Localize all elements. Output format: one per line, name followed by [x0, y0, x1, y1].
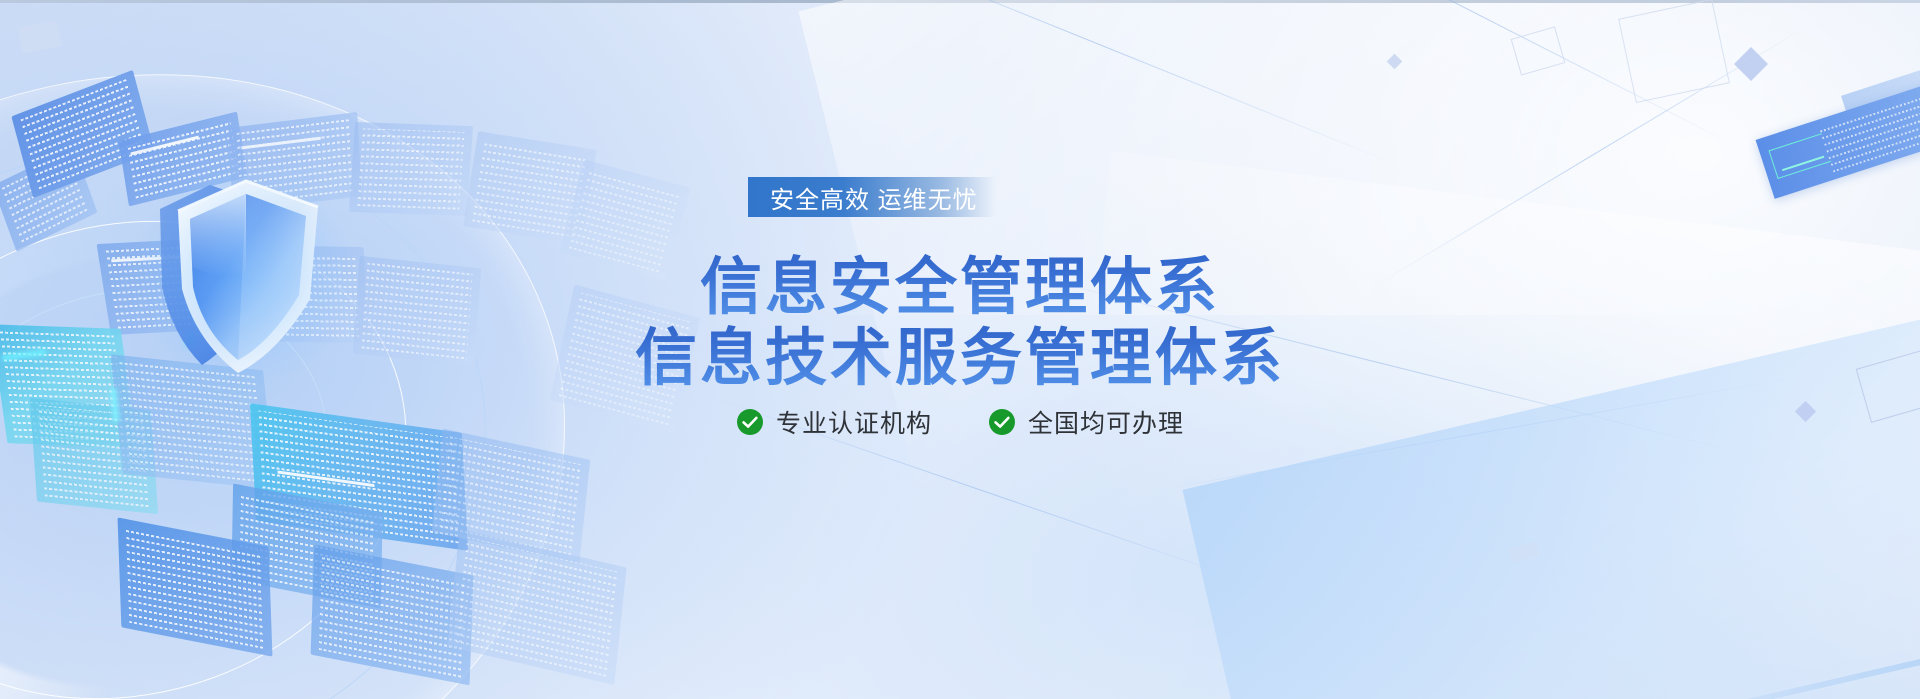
check-circle-icon [736, 408, 764, 436]
feature-item-2: 全国均可办理 [988, 404, 1184, 440]
tagline-text: 安全高效 运维无忧 [770, 180, 978, 215]
feature-label: 全国均可办理 [1028, 404, 1184, 440]
feature-item-1: 专业认证机构 [736, 404, 932, 440]
tagline-badge: 安全高效 运维无忧 [748, 177, 996, 217]
page-title-line-2: 信息技术服务管理体系 [0, 307, 1920, 397]
feature-label: 专业认证机构 [776, 404, 932, 440]
hero-content: 安全高效 运维无忧 信息安全管理体系 信息技术服务管理体系 专业认证机构 全国均… [0, 0, 1920, 699]
feature-list: 专业认证机构 全国均可办理 [0, 404, 1920, 440]
check-circle-icon [988, 408, 1016, 436]
hero-banner: 安全高效 运维无忧 信息安全管理体系 信息技术服务管理体系 专业认证机构 全国均… [0, 0, 1920, 699]
